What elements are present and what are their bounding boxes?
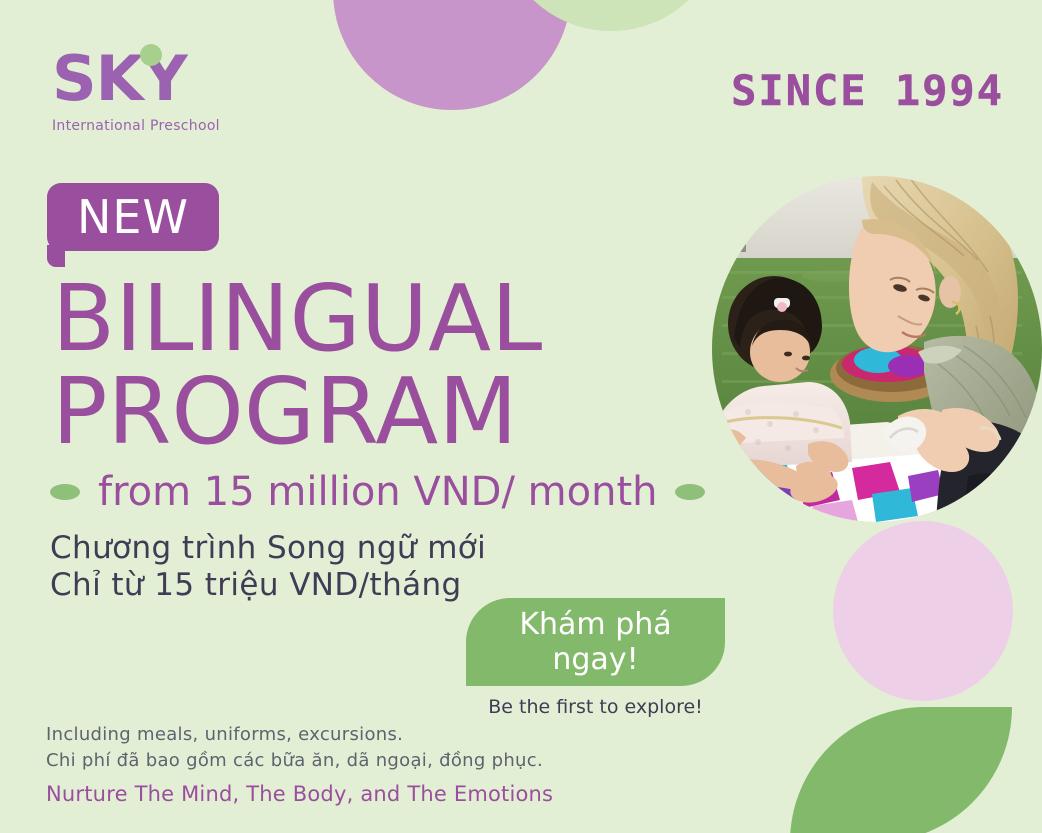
cta-label-line2: ngay! — [519, 642, 671, 677]
price-row: from 15 million VND/ month — [50, 470, 705, 514]
brand-logo: SKY International Preschool — [52, 48, 220, 135]
since-badge: SINCE 1994 — [731, 66, 1004, 115]
decorative-circle-pink-right — [833, 521, 1013, 701]
vietnamese-subtitle: Chương trình Song ngữ mới Chỉ từ 15 triệ… — [50, 530, 486, 604]
logo-subtitle-line2: Preschool — [150, 118, 220, 134]
classroom-photo-illustration — [712, 176, 1042, 522]
headline-line1: BILINGUAL — [52, 272, 542, 365]
logo-subtitle: International Preschool — [52, 118, 220, 135]
headline-line2: PROGRAM — [52, 365, 542, 458]
leaf-right-icon — [675, 484, 705, 500]
leaf-left-icon — [50, 484, 80, 500]
brand-tagline: Nurture The Mind, The Body, and The Emot… — [46, 782, 553, 806]
vietnamese-subtitle-line2: Chỉ từ 15 triệu VND/tháng — [50, 567, 486, 604]
decorative-leaf-bottom-right — [790, 707, 1012, 833]
new-badge: NEW — [47, 183, 219, 251]
vietnamese-subtitle-line1: Chương trình Song ngữ mới — [50, 530, 486, 567]
cta-label-line1: Khám phá — [519, 607, 671, 642]
price-text: from 15 million VND/ month — [98, 470, 657, 514]
new-badge-label: NEW — [77, 190, 189, 244]
footnote-line2: Chi phí đã bao gồm các bữa ăn, dã ngoại,… — [46, 748, 543, 774]
speech-bubble-tail-icon — [47, 245, 65, 267]
decorative-circle-mauve-top — [333, 0, 571, 110]
footnotes: Including meals, uniforms, excursions. C… — [46, 722, 543, 774]
footnote-line1: Including meals, uniforms, excursions. — [46, 722, 543, 748]
page-title: BILINGUAL PROGRAM — [52, 272, 542, 458]
new-badge-wrapper: NEW — [47, 183, 219, 251]
logo-subtitle-line1: International — [52, 118, 145, 134]
promotional-poster: SKY International Preschool SINCE 1994 N… — [0, 0, 1042, 833]
logo-mark: SKY — [52, 48, 172, 110]
cta-caption: Be the first to explore! — [466, 696, 725, 718]
logo-head-dot-icon — [140, 44, 162, 66]
explore-now-button-label: Khám phá ngay! — [519, 607, 671, 677]
explore-now-button[interactable]: Khám phá ngay! — [466, 598, 725, 686]
classroom-photo — [712, 176, 1042, 522]
decorative-circle-green-top — [498, 0, 724, 31]
